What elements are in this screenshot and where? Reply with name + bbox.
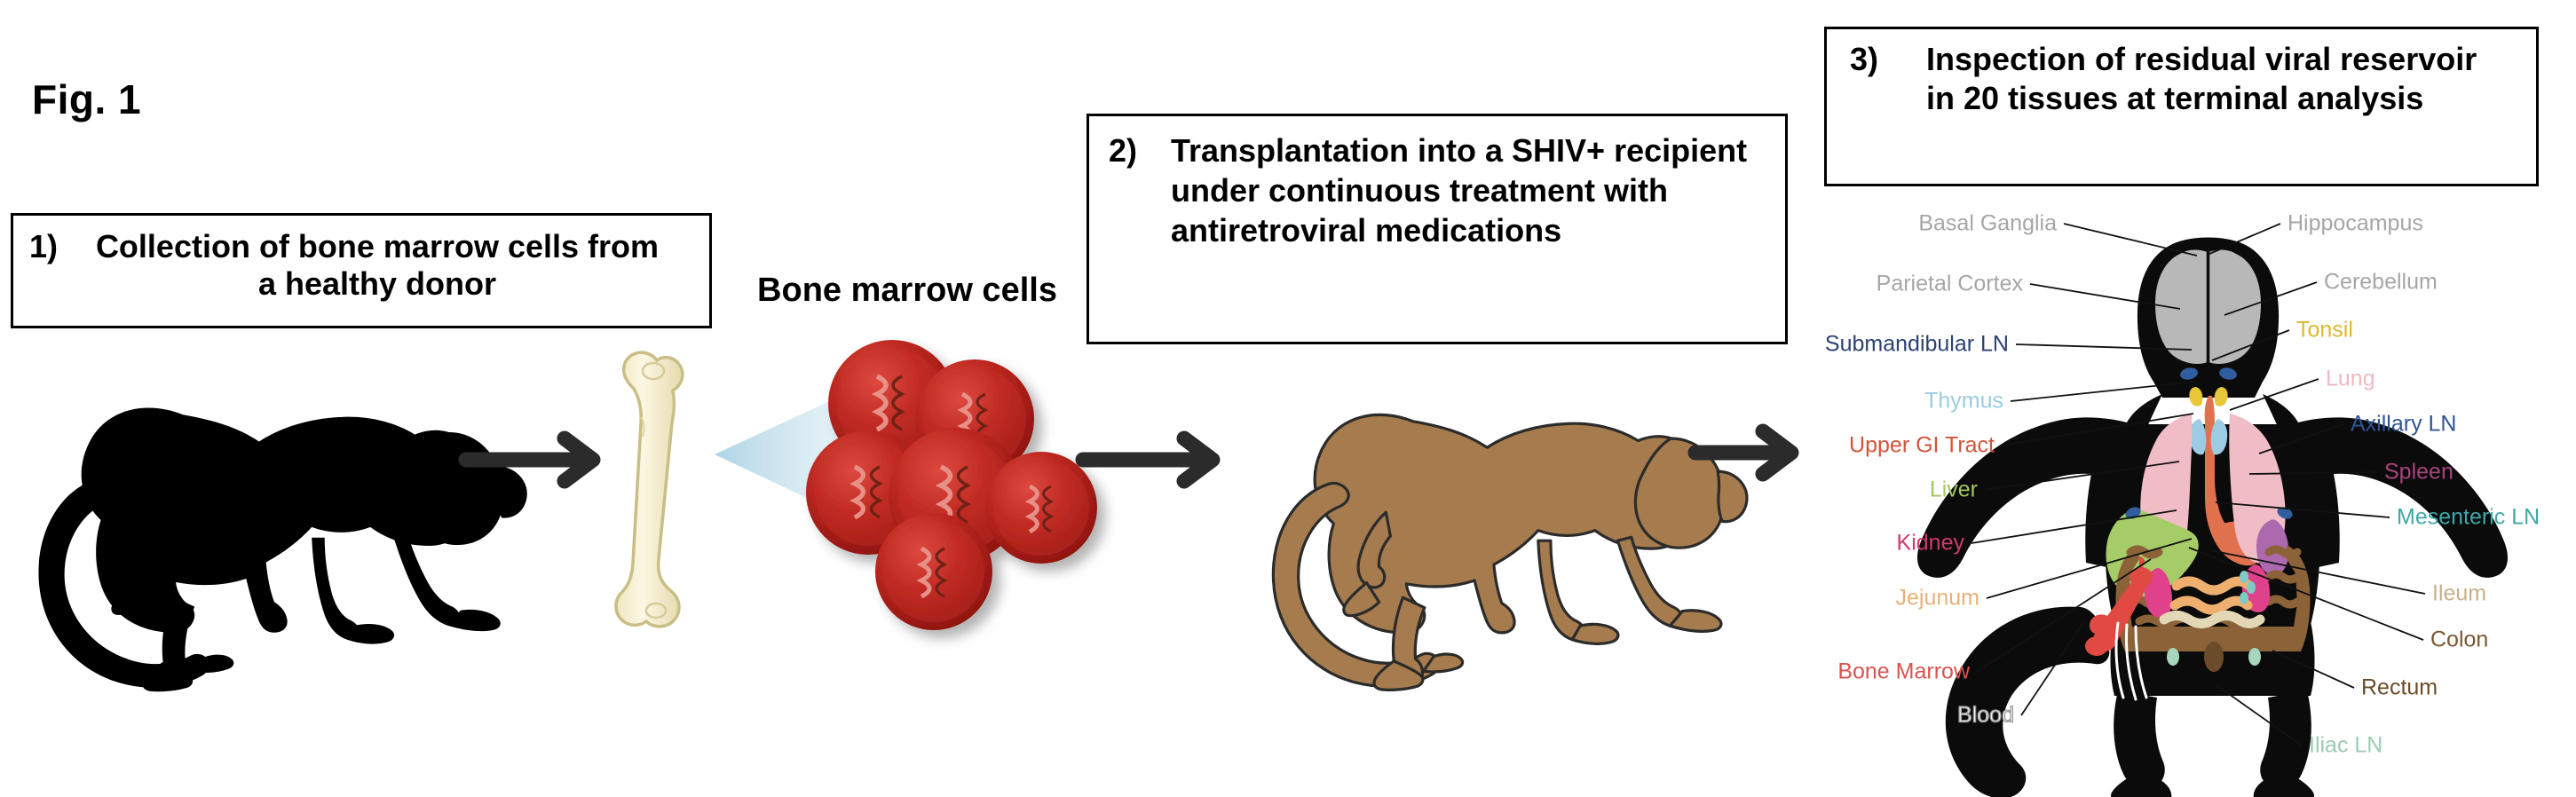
tissue-label-tonsil: Tonsil: [2296, 318, 2353, 343]
tissue-label-iliac-ln: Iliac LN: [2309, 733, 2382, 759]
tissue-label-rectum: Rectum: [2361, 675, 2438, 701]
tissue-label-colon: Colon: [2430, 627, 2488, 653]
organ-rectum: [2204, 642, 2224, 672]
tissue-label-hippocampus: Hippocampus: [2288, 211, 2423, 237]
tissue-label-cerebellum: Cerebellum: [2324, 270, 2438, 296]
cell-5: [985, 452, 1097, 564]
arrow-2: [1083, 438, 1213, 481]
cell-6: [875, 513, 992, 630]
tissue-label-lung: Lung: [2326, 367, 2375, 392]
tissue-label-jejunum: Jejunum: [1896, 586, 1980, 612]
tissue-label-axillary-ln: Axillary LN: [2351, 412, 2456, 438]
tissue-label-blood: Blood: [1957, 703, 2014, 729]
tissue-label-mesenteric-ln: Mesenteric LN: [2397, 505, 2540, 531]
tissue-label-basal-ganglia: Basal Ganglia: [1918, 211, 2057, 237]
tissue-label-upper-gi-tract: Upper GI Tract: [1849, 433, 1995, 459]
donor-monkey-silhouette: [38, 408, 526, 692]
tissue-label-liver: Liver: [1930, 477, 1978, 503]
figure-illustration: [0, 0, 2576, 797]
tissue-label-ileum: Ileum: [2432, 581, 2486, 607]
tissue-label-bone-marrow: Bone Marrow: [1837, 659, 1970, 685]
recipient-monkey-silhouette: [1273, 414, 1747, 690]
tissue-label-spleen: Spleen: [2384, 460, 2454, 485]
leader-line-basal-ganglia: [2064, 224, 2197, 256]
tissue-label-thymus: Thymus: [1924, 389, 2003, 414]
tissue-label-kidney: Kidney: [1897, 531, 1964, 556]
bone-marrow-cell-cluster: [806, 340, 1097, 630]
tissue-label-submandibular-ln: Submandibular LN: [1825, 332, 2009, 358]
tissue-label-parietal-cortex: Parietal Cortex: [1877, 272, 2023, 297]
femur-bone-icon: [616, 352, 683, 627]
